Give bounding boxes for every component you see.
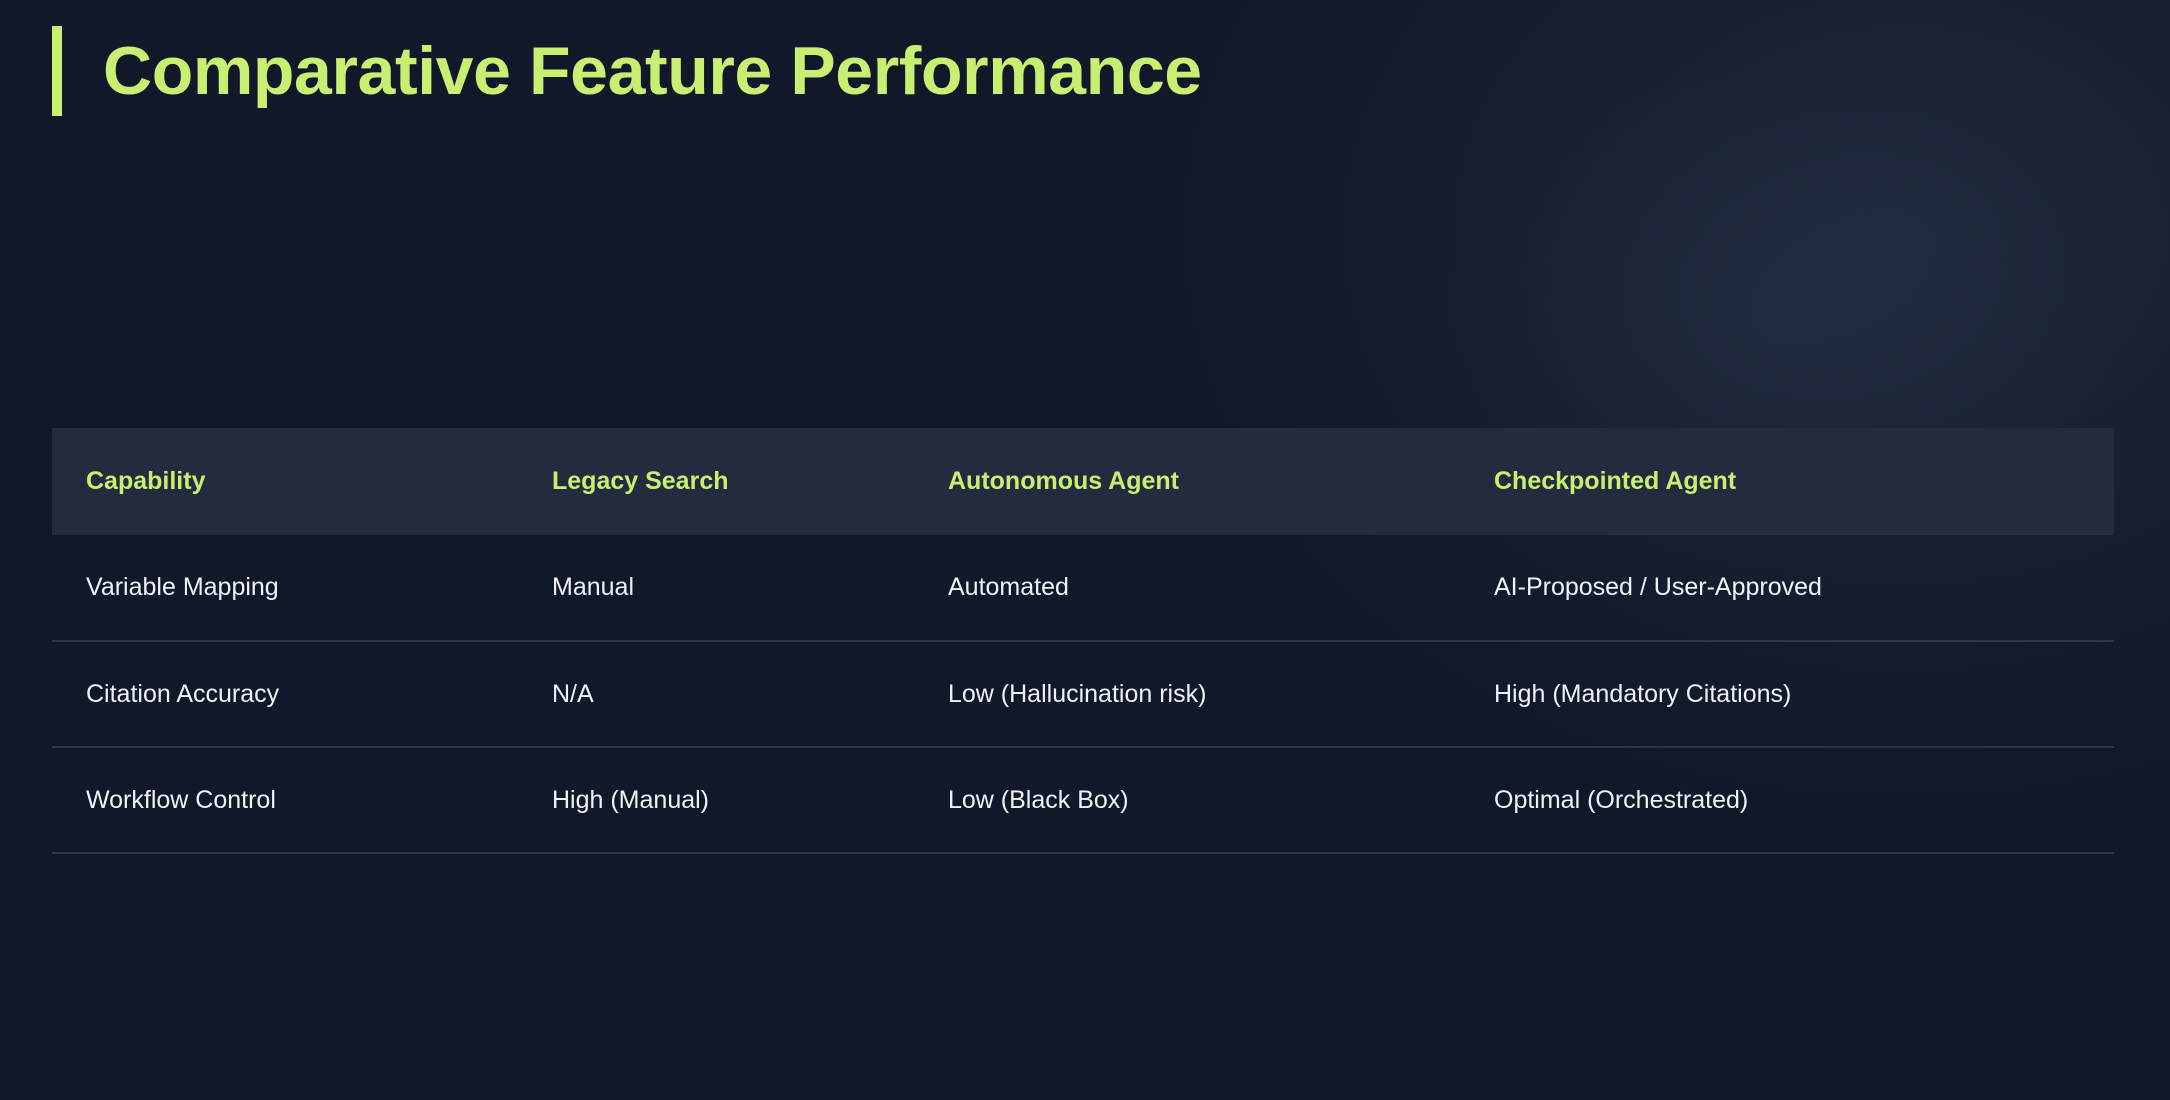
page-title: Comparative Feature Performance — [103, 24, 1202, 120]
table-row: Workflow Control High (Manual) Low (Blac… — [52, 747, 2114, 853]
table-row: Variable Mapping Manual Automated AI-Pro… — [52, 535, 2114, 641]
cell-autonomous-agent: Low (Hallucination risk) — [914, 641, 1460, 747]
comparison-table-container: Capability Legacy Search Autonomous Agen… — [52, 428, 2114, 854]
column-header-legacy-search[interactable]: Legacy Search — [518, 428, 914, 535]
cell-autonomous-agent: Low (Black Box) — [914, 747, 1460, 853]
column-header-checkpointed-agent[interactable]: Checkpointed Agent — [1460, 428, 2114, 535]
table-body: Variable Mapping Manual Automated AI-Pro… — [52, 535, 2114, 853]
column-header-autonomous-agent[interactable]: Autonomous Agent — [914, 428, 1460, 535]
cell-legacy-search: Manual — [518, 535, 914, 641]
cell-checkpointed-agent: High (Mandatory Citations) — [1460, 641, 2114, 747]
cell-capability: Citation Accuracy — [52, 641, 518, 747]
cell-legacy-search: High (Manual) — [518, 747, 914, 853]
table-header: Capability Legacy Search Autonomous Agen… — [52, 428, 2114, 535]
cell-autonomous-agent: Automated — [914, 535, 1460, 641]
table-row: Citation Accuracy N/A Low (Hallucination… — [52, 641, 2114, 747]
cell-checkpointed-agent: Optimal (Orchestrated) — [1460, 747, 2114, 853]
slide-canvas: Comparative Feature Performance Capabili… — [0, 0, 2170, 1100]
table-header-row: Capability Legacy Search Autonomous Agen… — [52, 428, 2114, 535]
cell-legacy-search: N/A — [518, 641, 914, 747]
cell-checkpointed-agent: AI-Proposed / User-Approved — [1460, 535, 2114, 641]
title-accent-bar — [52, 26, 62, 116]
cell-capability: Workflow Control — [52, 747, 518, 853]
comparison-table: Capability Legacy Search Autonomous Agen… — [52, 428, 2114, 854]
title-block: Comparative Feature Performance — [52, 24, 1202, 120]
column-header-capability[interactable]: Capability — [52, 428, 518, 535]
cell-capability: Variable Mapping — [52, 535, 518, 641]
